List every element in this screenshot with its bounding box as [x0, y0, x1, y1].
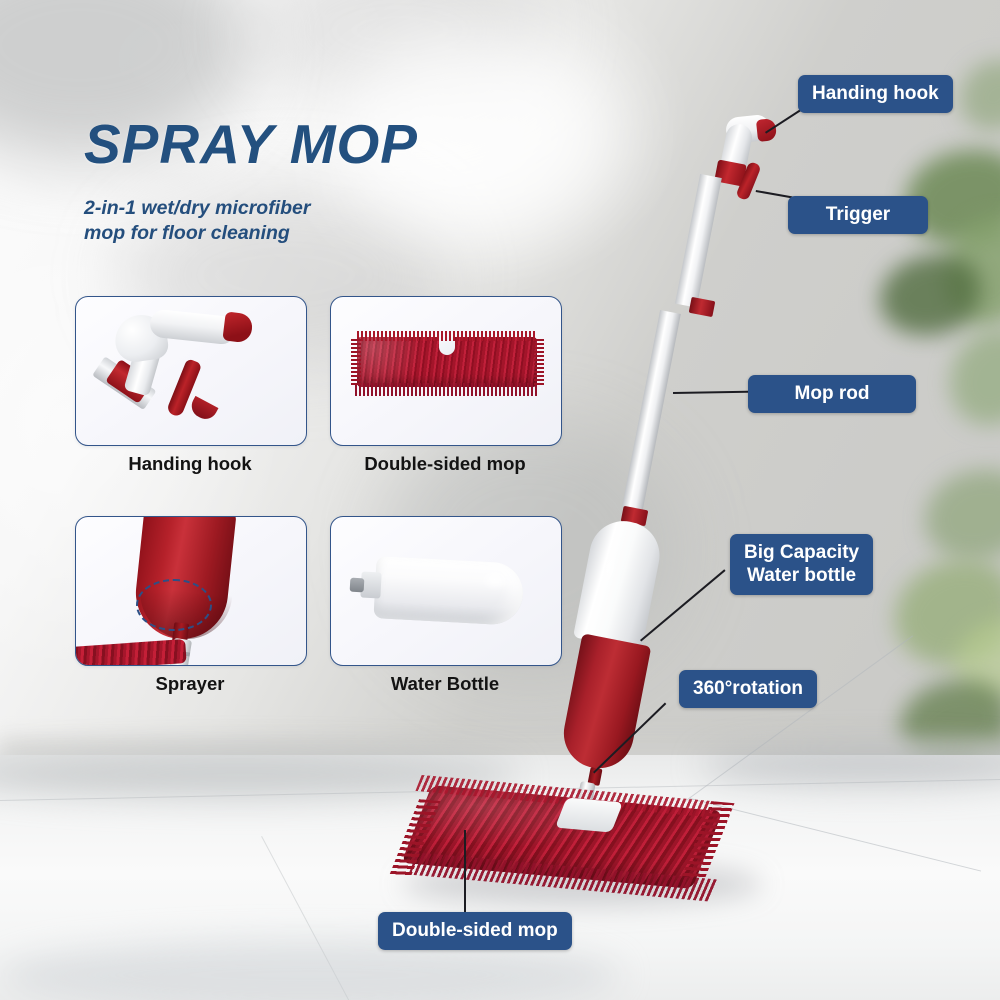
- mop-head-plate: [555, 798, 623, 833]
- infographic-canvas: SPRAY MOP 2-in-1 wet/dry microfiber mop …: [0, 0, 1000, 1000]
- callout-double-sided-mop[interactable]: Double-sided mop: [378, 912, 572, 950]
- callout-trigger[interactable]: Trigger: [788, 196, 928, 234]
- mop-rod-joint-collar-upper: [689, 297, 716, 317]
- callout-handing-hook[interactable]: Handing hook: [798, 75, 953, 113]
- product-photo-spray-mop: [0, 0, 1000, 1000]
- water-bottle-lower-red: [558, 633, 652, 774]
- leader-line-double-sided-mop: [465, 830, 467, 912]
- callout-water-bottle[interactable]: Big Capacity Water bottle: [730, 534, 873, 595]
- mop-rod-lower: [622, 310, 681, 510]
- callout-rotation[interactable]: 360°rotation: [679, 670, 817, 708]
- callout-mop-rod[interactable]: Mop rod: [748, 375, 916, 413]
- mop-rod-upper: [675, 174, 722, 308]
